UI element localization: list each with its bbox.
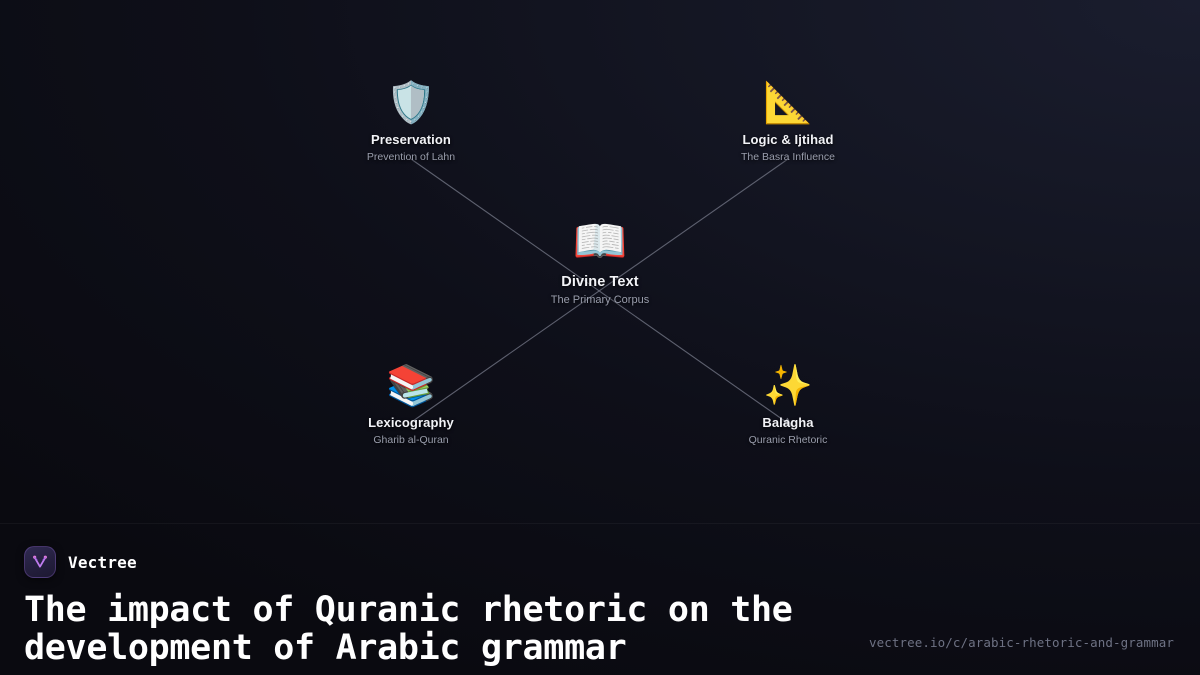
concept-graph[interactable]: 📖Divine TextThe Primary Corpus🛡️Preserva… [0,0,1200,530]
source-url: vectree.io/c/arabic-rhetoric-and-grammar [869,635,1174,650]
node-title: Balagha [678,416,898,431]
page-title: The impact of Quranic rhetoric on the de… [24,592,864,668]
node-subtitle: Gharib al-Quran [301,434,521,446]
graph-node-logic-ijtihad[interactable]: 📐Logic & IjtihadThe Basra Influence [678,83,898,163]
sparkles-icon: ✨ [678,366,898,406]
node-subtitle: The Basra Influence [678,151,898,163]
node-title: Preservation [301,133,521,148]
node-title: Lexicography [301,416,521,431]
node-subtitle: Prevention of Lahn [301,151,521,163]
node-title: Divine Text [490,274,710,291]
node-subtitle: Quranic Rhetoric [678,434,898,446]
vectree-sprout-logo-icon [24,546,56,578]
graph-node-preservation[interactable]: 🛡️PreservationPrevention of Lahn [301,83,521,163]
screenshot-canvas: 📖Divine TextThe Primary Corpus🛡️Preserva… [0,0,1200,675]
brand-name: Vectree [68,553,137,572]
node-subtitle: The Primary Corpus [490,294,710,307]
footer-bar: Vectree The impact of Quranic rhetoric o… [0,523,1200,675]
graph-node-lexicography[interactable]: 📚LexicographyGharib al-Quran [301,366,521,446]
graph-node-balagha[interactable]: ✨BalaghaQuranic Rhetoric [678,366,898,446]
open-book-icon: 📖 [490,220,710,264]
brand-block: Vectree [24,546,1174,578]
node-title: Logic & Ijtihad [678,133,898,148]
stacked-books-icon: 📚 [301,366,521,406]
shield-icon: 🛡️ [301,83,521,123]
graph-node-divine-text[interactable]: 📖Divine TextThe Primary Corpus [490,220,710,306]
triangular-ruler-icon: 📐 [678,83,898,123]
